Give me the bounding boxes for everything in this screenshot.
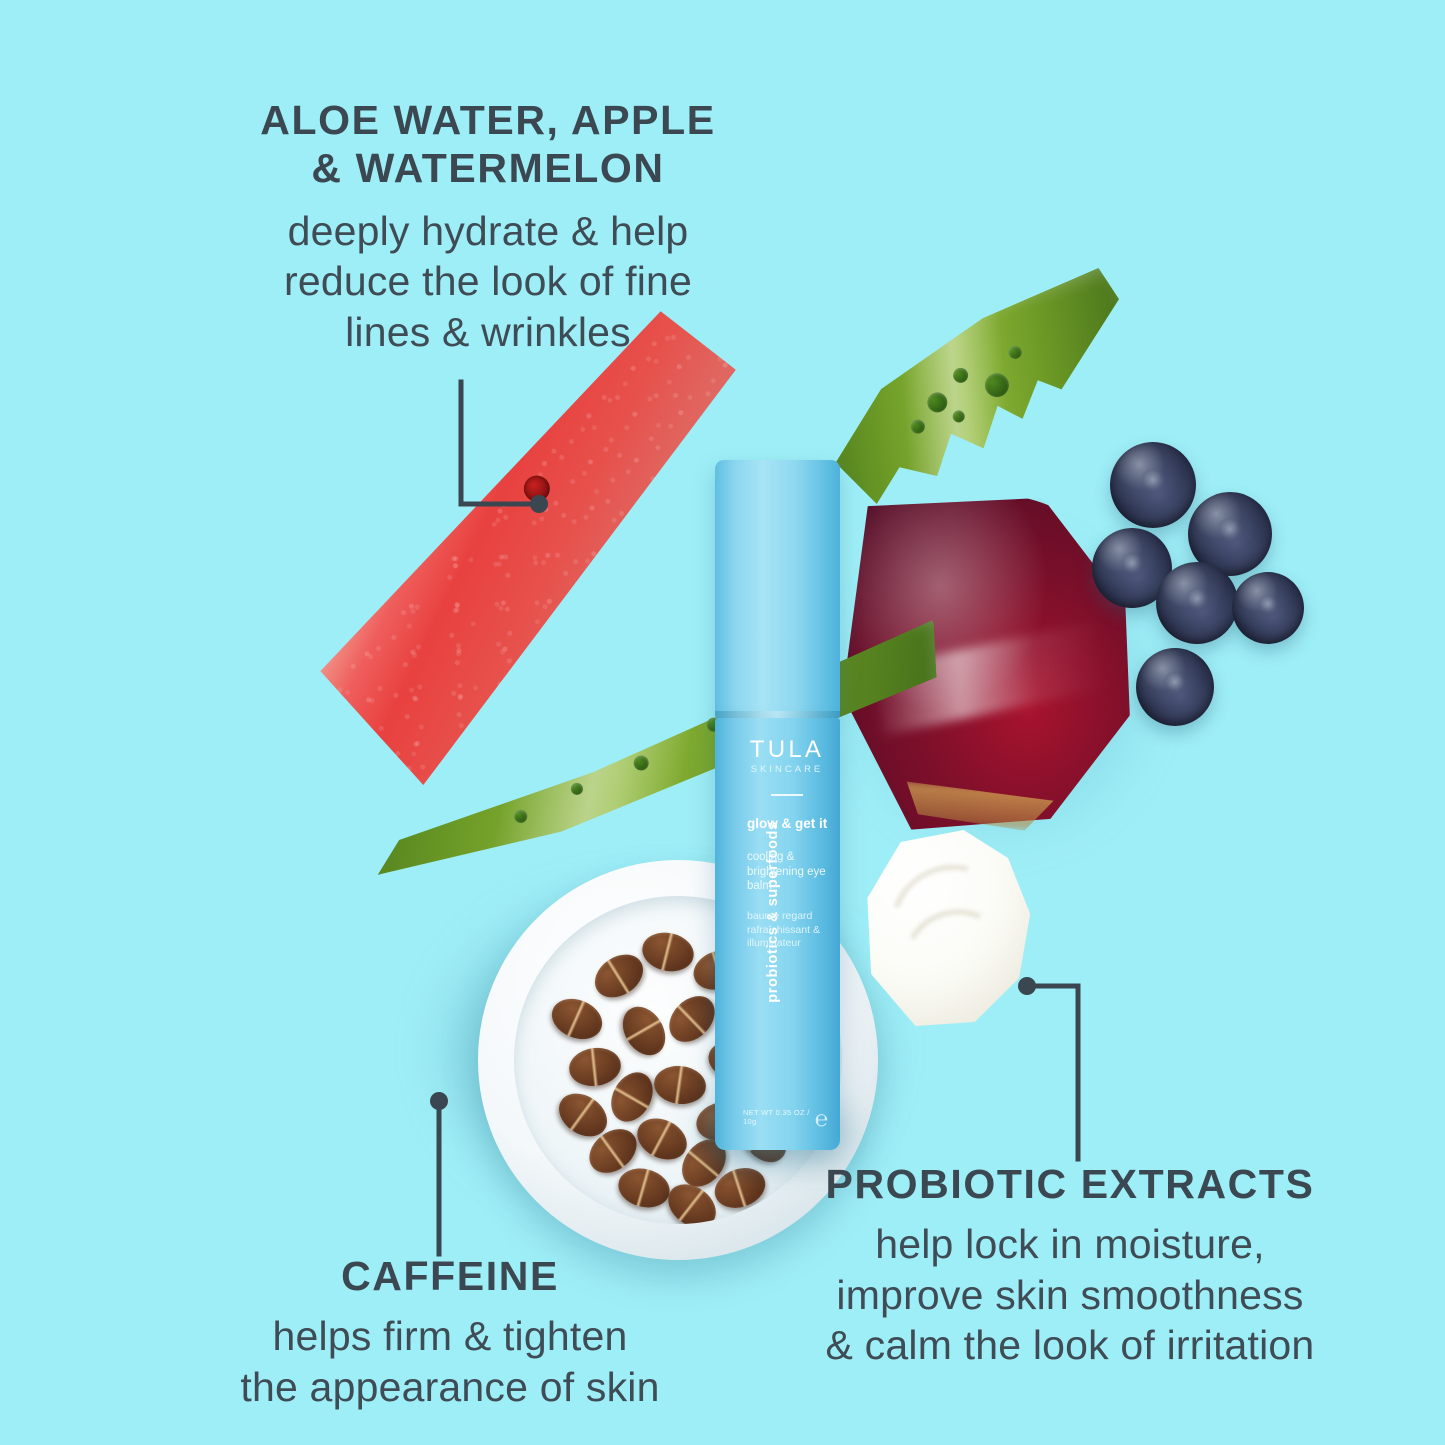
tube-french-description: baume regard rafraîchissant & illuminate… — [747, 910, 839, 951]
leader-line-aloe — [455, 378, 565, 518]
callout-caffeine-heading: CAFFEINE — [150, 1252, 750, 1300]
callout-probiotic-heading: PROBIOTIC EXTRACTS — [760, 1160, 1380, 1208]
aloe-droplet — [514, 809, 528, 823]
coffee-bean — [567, 1044, 624, 1089]
tube-divider — [771, 794, 803, 796]
callout-aloe-body: deeply hydrate & help reduce the look of… — [168, 206, 808, 357]
tube-product-name: glow & get it — [747, 816, 833, 832]
leader-line-probiotic — [1016, 975, 1126, 1165]
tube-body: probiotics & superfoods TULA SKINCARE gl… — [715, 718, 840, 1150]
callout-aloe-heading-line-1: ALOE WATER, APPLE — [168, 96, 808, 144]
callout-aloe-heading: ALOE WATER, APPLE & WATERMELON — [168, 96, 808, 193]
blueberry — [1110, 442, 1196, 528]
callout-aloe-body-line-1: deeply hydrate & help — [168, 206, 808, 256]
tube-net-weight: NET WT 0.35 OZ / 10g — [743, 1108, 821, 1126]
tube-product-description: cooling & brightening eye balm — [747, 850, 835, 894]
infographic-canvas: probiotics & superfoods TULA SKINCARE gl… — [0, 0, 1445, 1445]
aloe-droplet — [633, 755, 649, 771]
coffee-bean — [614, 999, 674, 1063]
blueberry — [1232, 572, 1304, 644]
estimated-sign-icon: ℮ — [815, 1106, 828, 1132]
leader-line-caffeine — [420, 1090, 460, 1260]
aloe-sheen — [354, 615, 946, 885]
blueberry — [1156, 562, 1238, 644]
callout-aloe-body-line-2: reduce the look of fine — [168, 256, 808, 306]
callout-caffeine-body-line-2: the appearance of skin — [150, 1362, 750, 1412]
aloe-droplet — [570, 782, 583, 795]
blueberry — [1136, 648, 1214, 726]
tube-brand-name: TULA — [741, 736, 833, 764]
callout-aloe-heading-line-2: & WATERMELON — [168, 144, 808, 192]
coffee-bean — [587, 946, 651, 1007]
callout-aloe-body-line-3: lines & wrinkles — [168, 307, 808, 357]
callout-probiotic-body-line-1: help lock in moisture, — [760, 1219, 1380, 1269]
callout-caffeine-body: helps firm & tighten the appearance of s… — [150, 1311, 750, 1412]
coffee-bean — [652, 1063, 708, 1106]
callout-probiotic-body-line-3: & calm the look of irritation — [760, 1320, 1380, 1370]
tube-brand-subtitle: SKINCARE — [741, 764, 833, 775]
aloe-leaf-long — [354, 615, 946, 885]
coffee-bean — [614, 1163, 674, 1212]
tube-cap — [715, 460, 840, 718]
callout-probiotic-body-line-2: improve skin smoothness — [760, 1270, 1380, 1320]
coffee-bean — [546, 991, 608, 1046]
coffee-bean — [638, 928, 697, 976]
callout-probiotic-body: help lock in moisture, improve skin smoo… — [760, 1219, 1380, 1370]
product-tube: probiotics & superfoods TULA SKINCARE gl… — [715, 460, 840, 1150]
callout-aloe: ALOE WATER, APPLE & WATERMELON deeply hy… — [168, 96, 808, 357]
callout-probiotic: PROBIOTIC EXTRACTS help lock in moisture… — [760, 1160, 1380, 1371]
callout-caffeine-body-line-1: helps firm & tighten — [150, 1311, 750, 1361]
callout-caffeine: CAFFEINE helps firm & tighten the appear… — [150, 1252, 750, 1412]
